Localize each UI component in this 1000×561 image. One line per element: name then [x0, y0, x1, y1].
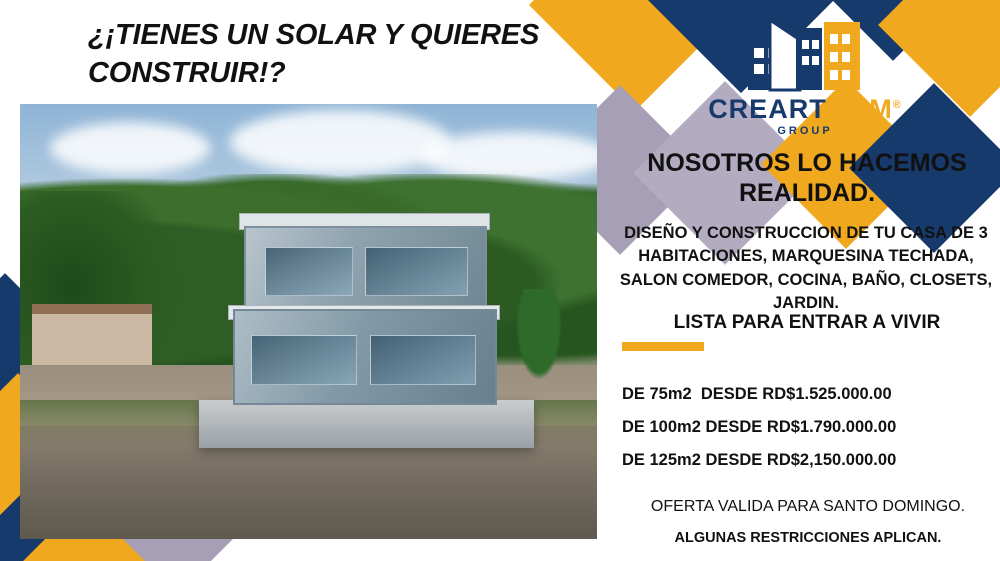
gold-accent-bar [622, 342, 704, 351]
photo-palm [504, 289, 574, 409]
house-upper-floor [244, 226, 487, 318]
cloud-2 [230, 110, 450, 174]
price-row-125m2: DE 125m2 DESDE RD$2,150.000.00 [622, 444, 1000, 477]
offer-note: OFERTA VALIDA PARA SANTO DOMINGO. [612, 498, 1000, 516]
ready-to-move-in-line: LISTA PARA ENTRAR A VIVIR [612, 312, 1000, 334]
house-window-lower-1 [251, 335, 357, 385]
logo-subtitle: GROUP [690, 125, 920, 137]
tagline: NOSOTROS LO HACEMOS REALIDAD. [612, 148, 1000, 208]
poster-canvas: ¿¡TIENES UN SOLAR Y QUIERES CONSTRUIR!? [0, 0, 1000, 561]
logo-word-creart: CREART [708, 94, 827, 124]
logo-wordmark: CREARTCOM® [690, 96, 920, 123]
page-title: ¿¡TIENES UN SOLAR Y QUIERES CONSTRUIR!? [88, 16, 628, 93]
house-lower-floor [233, 309, 497, 405]
restrictions-note: ALGUNAS RESTRICCIONES APLICAN. [612, 530, 1000, 546]
house-render [233, 226, 493, 435]
description-text: DISEÑO Y CONSTRUCCION DE TU CASA DE 3 HA… [608, 222, 1000, 316]
building-logo-icon [746, 18, 864, 92]
price-row-100m2: DE 100m2 DESDE RD$1.790.000.00 [622, 411, 1000, 444]
price-list: DE 75m2 DESDE RD$1.525.000.00 DE 100m2 D… [622, 378, 1000, 477]
house-photo [20, 104, 597, 539]
house-window-lower-2 [370, 335, 476, 385]
price-row-75m2: DE 75m2 DESDE RD$1.525.000.00 [622, 378, 1000, 411]
house-window-upper-1 [265, 247, 353, 296]
brand-logo: CREARTCOM® GROUP [690, 18, 920, 137]
logo-word-com: COM [827, 94, 893, 124]
cloud-1 [50, 122, 210, 174]
registered-trademark-icon: ® [893, 99, 902, 111]
house-window-upper-2 [365, 247, 467, 296]
